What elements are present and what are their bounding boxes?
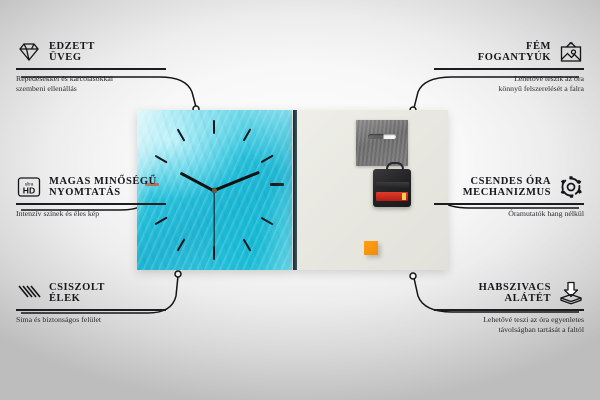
clock-tick bbox=[270, 183, 284, 186]
connector-dot-edges bbox=[175, 271, 181, 277]
feature-title-line: ALÁTÉT bbox=[479, 293, 551, 304]
feature-polished-edges: CSISZOLT ÉLEK Sima és biztonságos felüle… bbox=[16, 281, 166, 325]
polished-edges-icon bbox=[16, 281, 42, 305]
clock-tick bbox=[261, 216, 274, 225]
clock-tick bbox=[261, 154, 274, 163]
clock-tick bbox=[213, 120, 215, 134]
clock-tick bbox=[155, 154, 168, 163]
feature-description: Intenzív színek és éles kép bbox=[16, 209, 166, 220]
gear-icon bbox=[558, 175, 584, 199]
feature-description: Lehetővé teszi az óra egyenletes távolsá… bbox=[434, 315, 584, 336]
hanger-slot bbox=[368, 134, 396, 139]
svg-text:HD: HD bbox=[23, 185, 35, 195]
divider bbox=[434, 68, 584, 70]
feature-title-line: MECHANIZMUS bbox=[463, 187, 551, 198]
battery bbox=[376, 192, 408, 201]
feature-title-line: NYOMTATÁS bbox=[49, 187, 157, 198]
clock-tick bbox=[177, 238, 186, 251]
clock-hand-hour bbox=[180, 171, 215, 192]
clock-tick bbox=[243, 128, 252, 141]
feature-title-line: ÉLEK bbox=[49, 293, 105, 304]
divider bbox=[434, 309, 584, 311]
divider bbox=[16, 309, 166, 311]
divider bbox=[434, 203, 584, 205]
clock-tick bbox=[243, 238, 252, 251]
picture-hanger-icon bbox=[558, 40, 584, 64]
clock-mechanism bbox=[373, 169, 411, 207]
feature-description: Repedésekkel és karcolásokkal szembeni e… bbox=[16, 74, 166, 95]
feature-title-line: HABSZIVACS bbox=[479, 282, 551, 293]
mechanism-band bbox=[376, 182, 409, 188]
divider bbox=[16, 203, 166, 205]
feature-title-line: EDZETT bbox=[49, 41, 95, 52]
metal-hanger bbox=[356, 120, 408, 166]
feature-foam-pad: HABSZIVACS ALÁTÉT Lehetővé teszi az óra … bbox=[434, 281, 584, 336]
feature-description: Lehetővé teszik az óra könnyű felszerelé… bbox=[434, 74, 584, 95]
wall-clock-back bbox=[293, 110, 448, 270]
ultra-hd-icon: ultra HD bbox=[16, 175, 42, 199]
clock-hand-minute bbox=[213, 171, 260, 192]
feature-description: Sima és biztonságos felület bbox=[16, 315, 166, 326]
diamond-icon bbox=[16, 40, 42, 64]
connector-dot-foam bbox=[410, 273, 416, 279]
feature-quiet-mechanism: CSENDES ÓRA MECHANIZMUS bbox=[434, 175, 584, 219]
feature-title-line: CSENDES ÓRA bbox=[463, 176, 551, 187]
divider bbox=[16, 68, 166, 70]
clock-tick bbox=[177, 128, 186, 141]
clock-hub bbox=[212, 188, 217, 193]
feature-title-line: CSISZOLT bbox=[49, 282, 105, 293]
feature-tempered-glass: EDZETT ÜVEG Repedésekkel és karcolásokka… bbox=[16, 40, 166, 95]
feature-hd-print: ultra HD MAGAS MINŐSÉGŰ NYOMTATÁS Intenz… bbox=[16, 175, 166, 219]
infographic-canvas: EDZETT ÜVEG Repedésekkel és karcolásokka… bbox=[0, 0, 600, 400]
feature-title-line: MAGAS MINŐSÉGŰ bbox=[49, 176, 157, 187]
foam-pad bbox=[364, 241, 378, 255]
feature-metal-handles: FÉM FOGANTYÚK Lehetővé teszik az óra kön… bbox=[434, 40, 584, 95]
feature-description: Óramutatók hang nélkül bbox=[434, 209, 584, 220]
foam-pad-icon bbox=[558, 281, 584, 305]
feature-title-line: FÉM bbox=[478, 41, 551, 52]
feature-title-line: ÜVEG bbox=[49, 52, 95, 63]
feature-title-line: FOGANTYÚK bbox=[478, 52, 551, 63]
clock-hand-second bbox=[213, 191, 214, 253]
